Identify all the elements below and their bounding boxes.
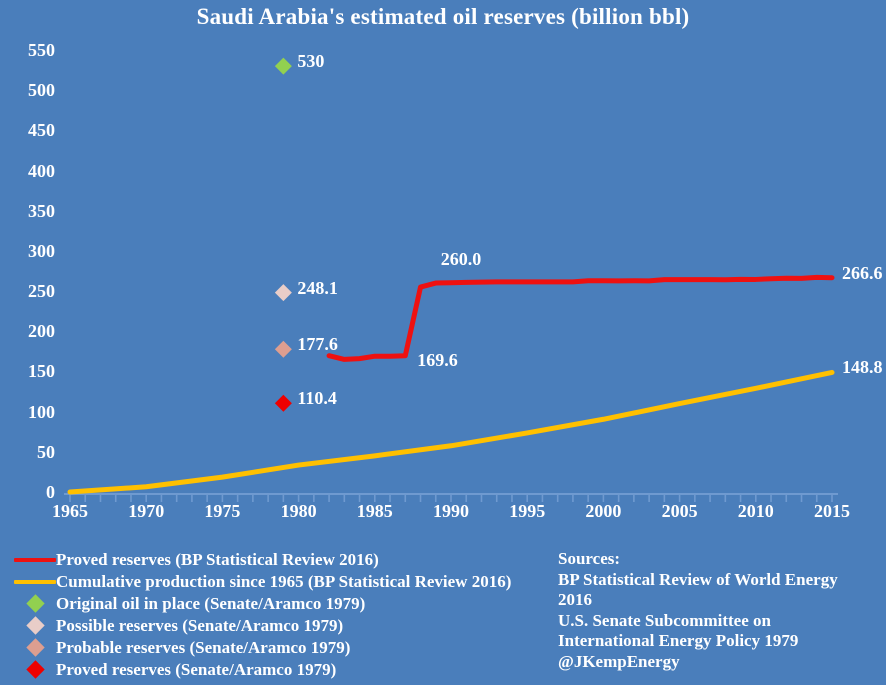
diamond-marker-icon — [26, 638, 44, 656]
legend-item-4[interactable]: Probable reserves (Senate/Aramco 1979) — [14, 637, 544, 658]
data-label-148.8: 148.8 — [842, 358, 883, 376]
sources-line-1: 2016 — [558, 590, 883, 611]
diamond-marker-icon — [26, 594, 44, 612]
sources-line-4: @JKempEnergy — [558, 652, 883, 673]
legend-item-label: Proved reserves (Senate/Aramco 1979) — [56, 660, 336, 679]
data-label-169.6: 169.6 — [417, 351, 458, 369]
series-line-1 — [70, 372, 832, 492]
sources-line-2: U.S. Senate Subcommittee on — [558, 611, 883, 632]
data-label-248.1: 248.1 — [297, 279, 338, 297]
series-line-0 — [329, 277, 832, 359]
series-marker-2 — [275, 58, 292, 75]
diamond-marker-icon — [26, 616, 44, 634]
series-marker-5 — [275, 395, 292, 412]
legend-item-1[interactable]: Cumulative production since 1965 (BP Sta… — [14, 571, 544, 592]
legend-item-label: Probable reserves (Senate/Aramco 1979) — [56, 638, 350, 657]
data-label-530: 530 — [297, 52, 324, 70]
legend-item-label: Cumulative production since 1965 (BP Sta… — [56, 572, 511, 591]
sources-block: Sources: BP Statistical Review of World … — [558, 549, 883, 672]
legend-item-0[interactable]: Proved reserves (BP Statistical Review 2… — [14, 549, 544, 570]
sources-heading: Sources: — [558, 549, 883, 570]
diamond-marker-icon — [26, 660, 44, 678]
data-label-260.0: 260.0 — [441, 250, 482, 268]
line-swatch-icon — [14, 558, 56, 562]
data-label-266.6: 266.6 — [842, 264, 883, 282]
legend-item-3[interactable]: Possible reserves (Senate/Aramco 1979) — [14, 615, 544, 636]
series-marker-3 — [275, 284, 292, 301]
legend-line-swatch-0 — [14, 549, 56, 570]
sources-line-0: BP Statistical Review of World Energy — [558, 570, 883, 591]
legend-item-label: Original oil in place (Senate/Aramco 197… — [56, 594, 365, 613]
legend-diamond-swatch-5 — [14, 659, 56, 680]
legend-item-label: Possible reserves (Senate/Aramco 1979) — [56, 616, 343, 635]
sources-line-3: International Energy Policy 1979 — [558, 631, 883, 652]
data-label-110.4: 110.4 — [297, 389, 337, 407]
legend-diamond-swatch-2 — [14, 593, 56, 614]
legend-line-swatch-1 — [14, 571, 56, 592]
legend-item-2[interactable]: Original oil in place (Senate/Aramco 197… — [14, 593, 544, 614]
x-axis-ticks — [70, 494, 832, 502]
legend-diamond-swatch-4 — [14, 637, 56, 658]
data-label-177.6: 177.6 — [297, 335, 338, 353]
chart-legend: Proved reserves (BP Statistical Review 2… — [14, 549, 544, 681]
legend-diamond-swatch-3 — [14, 615, 56, 636]
series-marker-4 — [275, 341, 292, 358]
legend-item-5[interactable]: Proved reserves (Senate/Aramco 1979) — [14, 659, 544, 680]
chart-container: Saudi Arabia's estimated oil reserves (b… — [0, 0, 886, 685]
line-swatch-icon — [14, 580, 56, 584]
legend-item-label: Proved reserves (BP Statistical Review 2… — [56, 550, 379, 569]
